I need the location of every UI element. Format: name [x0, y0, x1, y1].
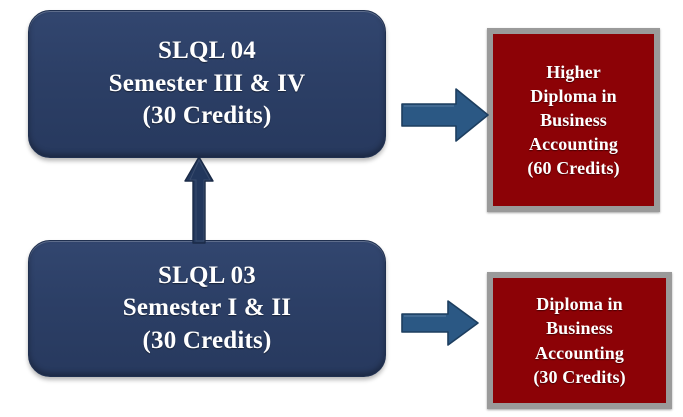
- award-line: Business: [546, 316, 613, 340]
- stage-code-label: SLQL 04: [158, 35, 256, 68]
- award-line: Diploma in: [536, 292, 623, 316]
- award-arrow-right-upper-icon: [400, 86, 490, 144]
- award-arrow-right-lower-icon: [400, 298, 480, 348]
- award-line: Accounting: [529, 132, 618, 156]
- diagram-canvas: SLQL 04 Semester III & IV (30 Credits) S…: [0, 0, 683, 417]
- award-line: Business: [540, 108, 607, 132]
- award-line: Higher: [546, 60, 601, 84]
- award-box-diploma[interactable]: Diploma in Business Accounting (30 Credi…: [487, 272, 672, 409]
- award-box-higher-diploma[interactable]: Higher Diploma in Business Accounting (6…: [487, 28, 660, 212]
- award-line: Accounting: [535, 341, 624, 365]
- stage-box-slql-03[interactable]: SLQL 03 Semester I & II (30 Credits): [28, 240, 386, 377]
- stage-credits-label: (30 Credits): [143, 325, 272, 358]
- stage-code-label: SLQL 03: [158, 260, 256, 293]
- award-credits-label: (60 Credits): [527, 156, 619, 180]
- stage-semesters-label: Semester III & IV: [109, 68, 306, 101]
- stage-semesters-label: Semester I & II: [123, 292, 291, 325]
- award-credits-label: (30 Credits): [533, 365, 625, 389]
- stage-box-slql-04[interactable]: SLQL 04 Semester III & IV (30 Credits): [28, 10, 386, 158]
- award-line: Diploma in: [530, 84, 617, 108]
- progression-arrow-up-icon: [184, 155, 214, 245]
- stage-credits-label: (30 Credits): [143, 100, 272, 133]
